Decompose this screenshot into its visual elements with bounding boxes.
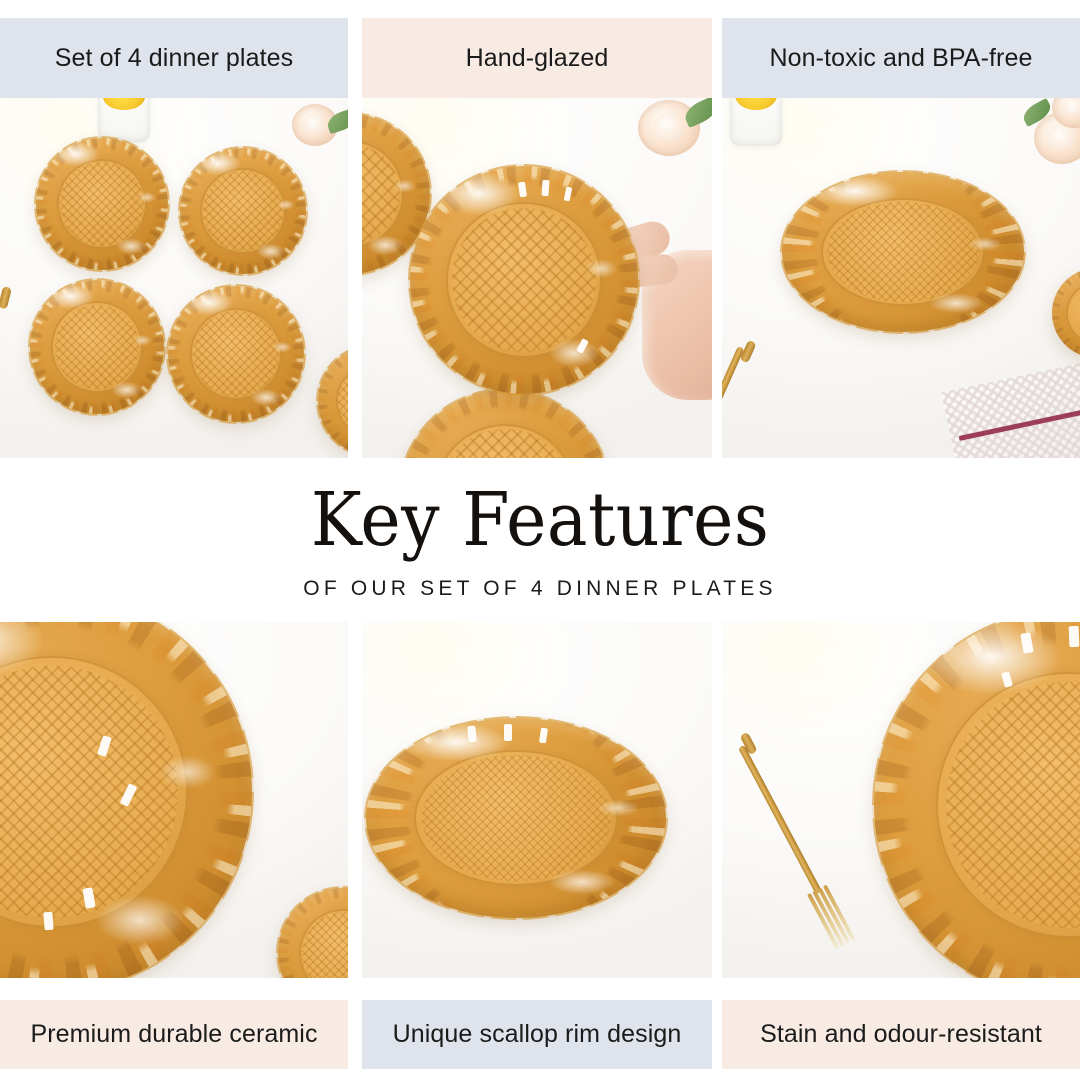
- photo-gap: [712, 98, 722, 458]
- bottom-banner-row: Premium durable ceramic Unique scallop r…: [0, 1000, 1080, 1069]
- page-title: Key Features: [311, 483, 769, 557]
- glass-of-lemon-water: [730, 98, 782, 146]
- photo-hand-holding-plate: [362, 98, 712, 458]
- plate-waffle-texture: [193, 311, 279, 397]
- bottom-banner-3: Stain and odour-resistant: [722, 1000, 1080, 1069]
- banner-gap: [348, 1000, 362, 1069]
- plate-waffle-texture: [827, 202, 979, 303]
- plate: [36, 138, 168, 270]
- lemon-slice: [103, 98, 145, 110]
- top-banner-3: Non-toxic and BPA-free: [722, 18, 1080, 98]
- top-banner-2-label: Hand-glazed: [466, 44, 609, 73]
- photo-plate-with-fork: [722, 622, 1080, 978]
- plate-waffle-texture: [422, 755, 611, 881]
- bottom-banner-1-label: Premium durable ceramic: [30, 1020, 317, 1049]
- plate: [168, 286, 304, 422]
- photo-closeup-waffle-center: [0, 622, 348, 978]
- product-feature-card: Set of 4 dinner plates Hand-glazed Non-t…: [0, 0, 1080, 1080]
- rim-highlight: [467, 726, 477, 743]
- photo-gap: [348, 98, 362, 458]
- bottom-banner-3-label: Stain and odour-resistant: [760, 1020, 1042, 1049]
- plate: [180, 148, 306, 274]
- top-banner-row: Set of 4 dinner plates Hand-glazed Non-t…: [0, 18, 1080, 98]
- banner-gap: [712, 1000, 722, 1069]
- plate-hero: [366, 718, 666, 918]
- rim-highlight: [1069, 625, 1080, 646]
- page-subtitle: OF OUR SET OF 4 DINNER PLATES: [303, 577, 776, 601]
- plate-hero: [782, 172, 1024, 332]
- rim-highlight: [504, 724, 512, 741]
- top-photo-row: [0, 98, 1080, 458]
- rim-highlight: [43, 912, 53, 931]
- bottom-banner-2: Unique scallop rim design: [362, 1000, 712, 1069]
- photo-backdrop: [0, 98, 348, 458]
- top-banner-1-label: Set of 4 dinner plates: [55, 44, 293, 73]
- bottom-banner-2-label: Unique scallop rim design: [393, 1020, 682, 1049]
- towel-stripe: [959, 405, 1080, 441]
- plate-hero: [410, 166, 638, 394]
- top-banner-3-label: Non-toxic and BPA-free: [770, 44, 1033, 73]
- bottom-photo-row: [0, 622, 1080, 978]
- lemon-slice: [735, 98, 777, 110]
- plate-waffle-texture: [60, 162, 143, 245]
- plate-waffle-texture: [55, 305, 139, 389]
- plate: [30, 280, 164, 414]
- banner-gap: [712, 18, 722, 98]
- banner-gap: [348, 18, 362, 98]
- photo-gap: [712, 622, 722, 978]
- rim-highlight: [542, 179, 550, 195]
- photo-oval-scalloped-plate: [362, 622, 712, 978]
- bottom-banner-1: Premium durable ceramic: [0, 1000, 348, 1069]
- plate-waffle-texture: [452, 208, 596, 352]
- top-banner-1: Set of 4 dinner plates: [0, 18, 348, 98]
- photo-single-plate-angled: [722, 98, 1080, 458]
- photo-four-plates-flatlay: [0, 98, 348, 458]
- top-banner-2: Hand-glazed: [362, 18, 712, 98]
- headline-block: Key Features OF OUR SET OF 4 DINNER PLAT…: [0, 462, 1080, 622]
- photo-gap: [348, 622, 362, 978]
- plate-waffle-texture: [203, 171, 282, 250]
